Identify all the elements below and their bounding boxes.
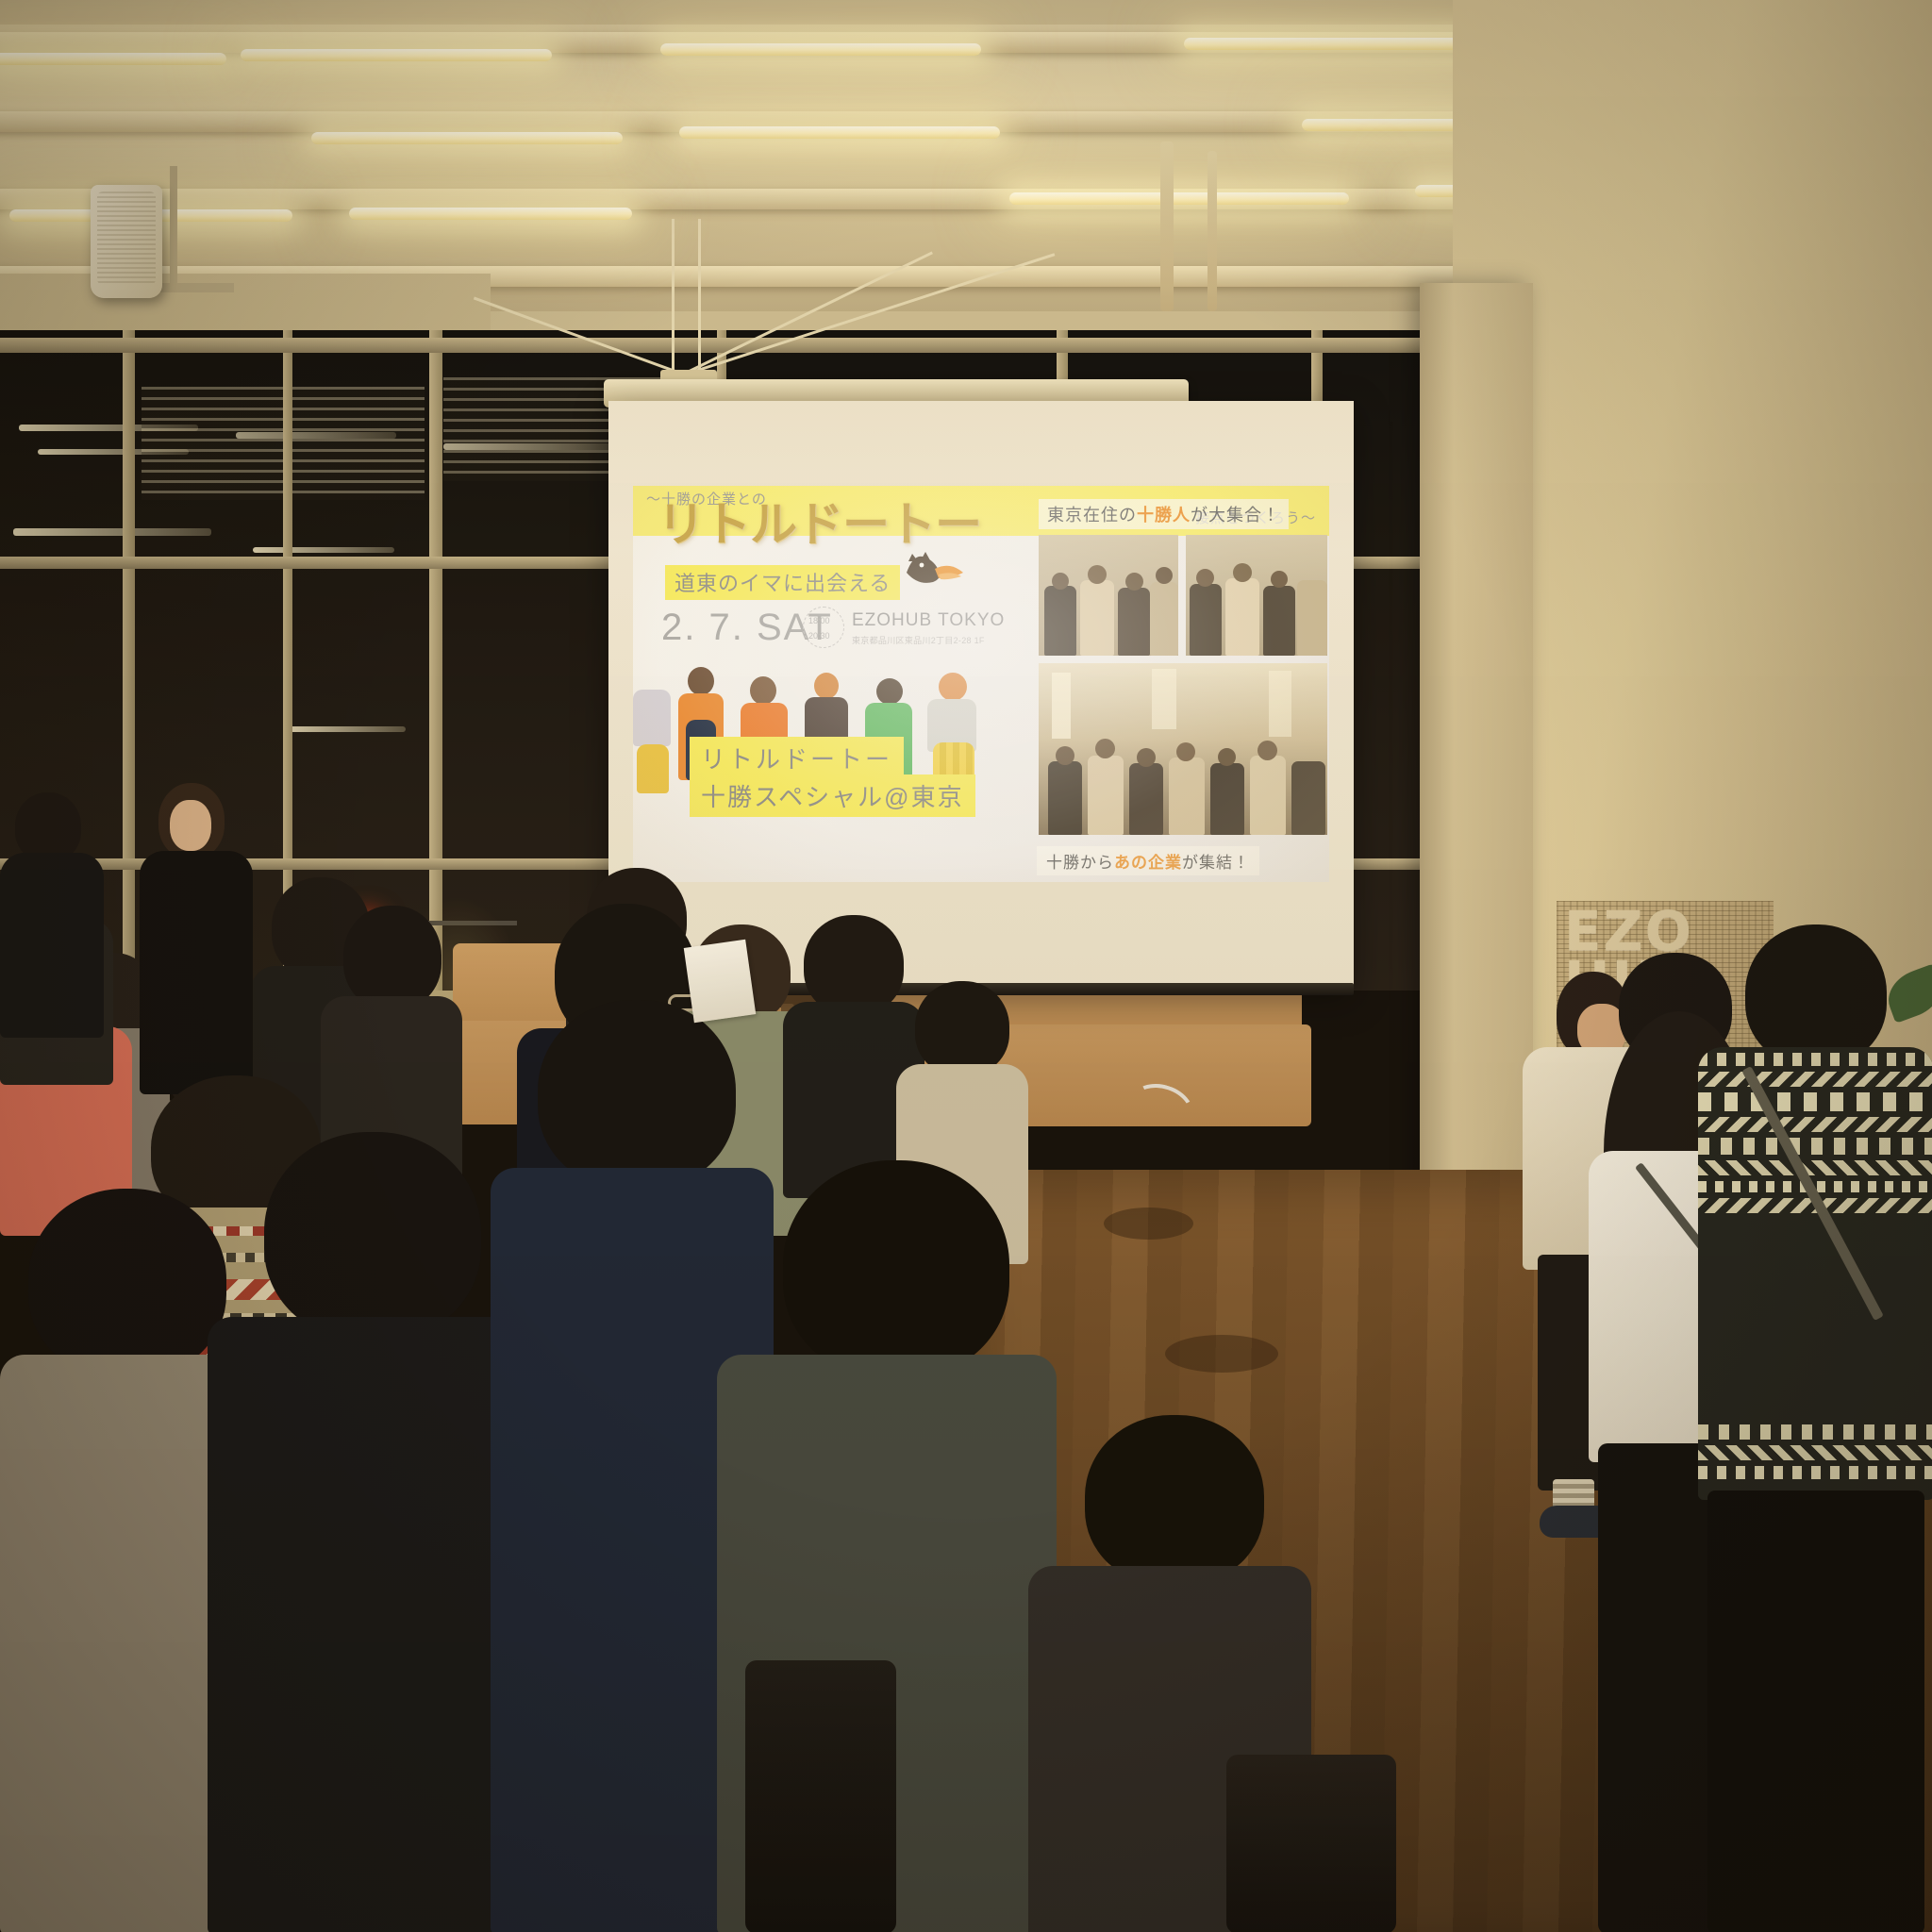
ceiling-light: [241, 49, 552, 61]
ceiling-light: [660, 43, 981, 56]
slide-tagline: 道東のイマに出会える: [665, 565, 900, 600]
projection-screen: リトルドートー 道東のイマに出会える 2. 7. SAT 18:00 20:30…: [608, 401, 1354, 991]
audience-hands-up-photo: [1039, 663, 1327, 835]
woman-standing-left: [140, 783, 253, 1094]
caption-pre: 十勝から: [1046, 854, 1114, 872]
caption-post: が集結！: [1182, 854, 1250, 872]
caption-post: が大集合！: [1191, 506, 1280, 525]
slide-venue-address: 東京都品川区東品川2丁目2-28 1F: [852, 634, 985, 646]
ceiling-light: [1009, 192, 1349, 205]
ceiling-light: [0, 53, 226, 65]
caption-pre: 東京在住の: [1047, 506, 1137, 525]
slide-tagline-wrap: 道東のイマに出会える: [665, 565, 900, 600]
slide-title: リトルドートー: [658, 501, 981, 548]
ceiling-light: [1184, 38, 1495, 50]
audience-member: [208, 1132, 519, 1932]
caption-emphasis: 十勝人: [1137, 506, 1191, 525]
slide-time-badge: 18:00 20:30: [803, 607, 844, 648]
illustration-figure: [633, 690, 675, 793]
ceiling-speaker: [91, 185, 162, 298]
event-photo-scene: EZO HUB TOKYO リトルドートー 道東のイマに出会える: [0, 0, 1932, 1932]
caption-emphasis: あの企業: [1114, 854, 1182, 872]
slide-headline-2: 十勝スペシャル@東京: [690, 774, 975, 817]
chair-back: [745, 1660, 896, 1932]
audience-member-backpack: [0, 792, 104, 1038]
face: [170, 800, 211, 851]
slide-venue-name: EZOHUB TOKYO: [852, 610, 1005, 631]
networking-crowd-photo: [1039, 535, 1178, 656]
floor-access-panel: [1104, 1207, 1193, 1240]
mingling-guests-photo: [1186, 535, 1327, 656]
slide-time-end: 20:30: [808, 631, 830, 641]
slide-right-top-caption: 東京在住の十勝人が大集合！: [1039, 499, 1289, 529]
ceiling-light: [311, 132, 623, 144]
floor-access-panel: [1165, 1335, 1278, 1373]
presentation-slide: リトルドートー 道東のイマに出会える 2. 7. SAT 18:00 20:30…: [633, 486, 1329, 882]
fox-mascot-icon: [897, 544, 963, 588]
slide-right-bottom-caption: 十勝からあの企業が集結！: [1037, 846, 1259, 875]
chair-back: [1226, 1755, 1396, 1932]
ceiling-light: [679, 126, 1000, 139]
slide-headline-1: リトルドートー: [690, 737, 904, 779]
ceiling-light: [349, 208, 632, 220]
person-fairisle-sweater: [1698, 924, 1932, 1932]
fairisle-pattern: [1698, 1047, 1932, 1500]
handout-paper: [684, 940, 756, 1023]
slide-time-start: 18:00: [808, 616, 830, 625]
illustration-figure: [925, 673, 980, 790]
